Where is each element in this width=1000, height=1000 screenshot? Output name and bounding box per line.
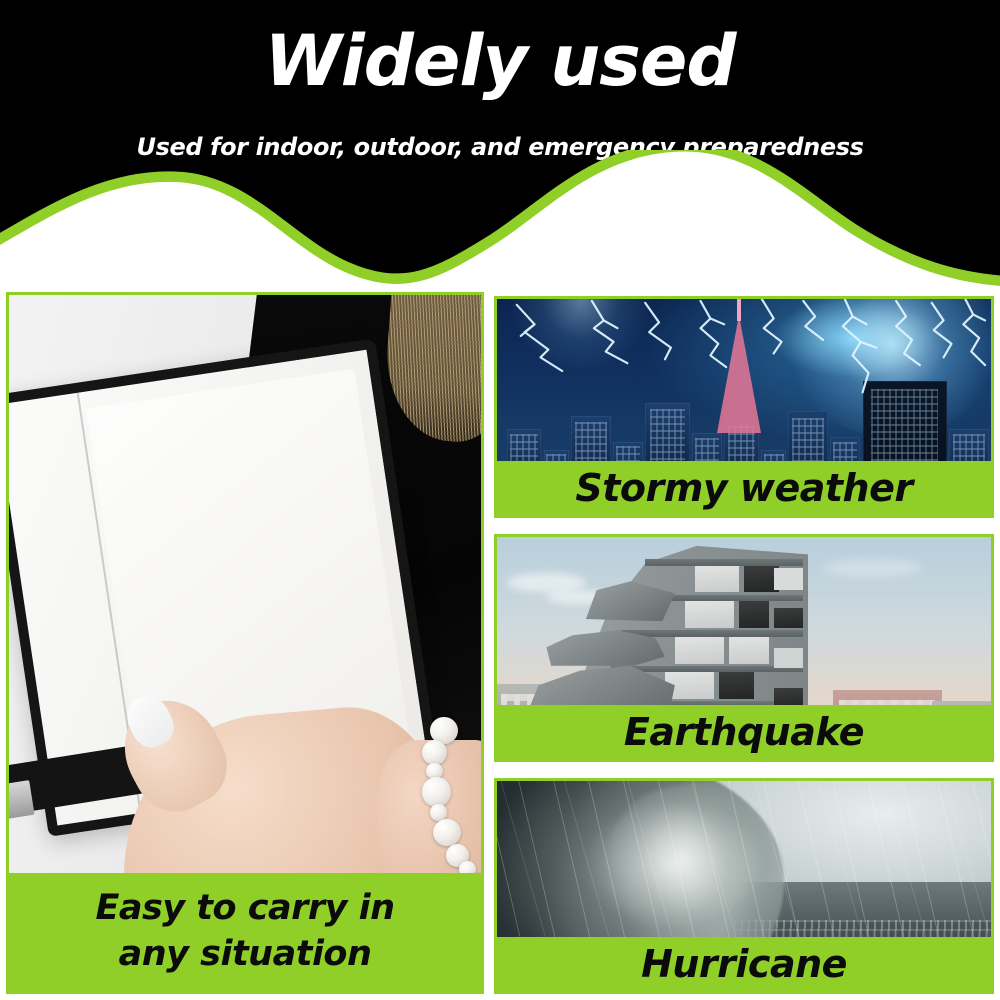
panel-hurricane[interactable]: Hurricane xyxy=(494,778,994,994)
panel-label-earthquake: Earthquake xyxy=(497,705,991,759)
infographic-root: Widely used Used for indoor, outdoor, an… xyxy=(0,0,1000,1000)
panel-easy-to-carry[interactable]: Easy to carry in any situation xyxy=(6,292,484,994)
panel-label-line2: any situation xyxy=(9,931,481,977)
panel-label-stormy-weather: Stormy weather xyxy=(497,461,991,515)
page-title: Widely used xyxy=(0,26,1000,96)
panel-stormy-weather[interactable]: Stormy weather xyxy=(494,296,994,518)
panel-label-easy-to-carry: Easy to carry in any situation xyxy=(9,873,481,991)
panel-label-hurricane: Hurricane xyxy=(497,937,991,991)
panel-label-line1: Easy to carry in xyxy=(9,885,481,931)
header-banner: Widely used Used for indoor, outdoor, an… xyxy=(0,0,1000,290)
panel-earthquake[interactable]: Earthquake xyxy=(494,534,994,762)
wave-divider xyxy=(0,150,1000,290)
